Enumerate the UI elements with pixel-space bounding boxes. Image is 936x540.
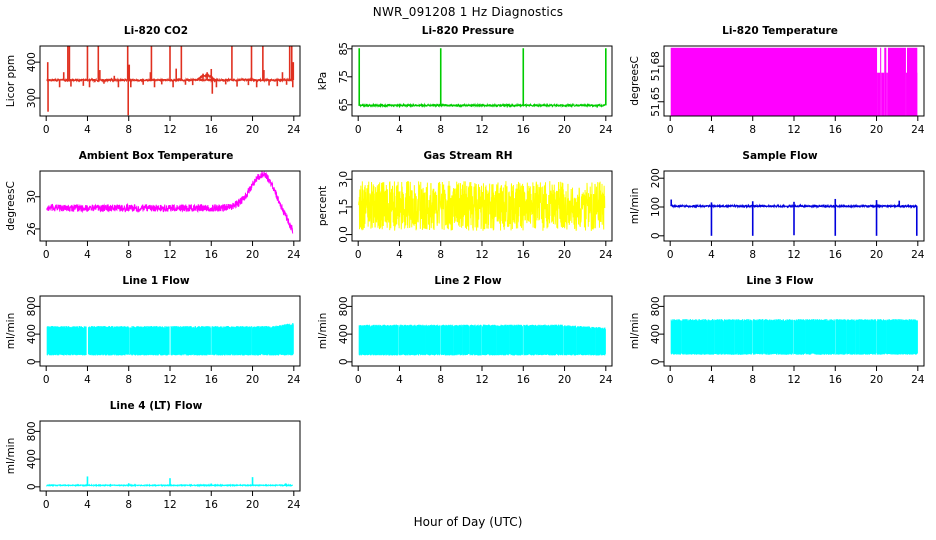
panel-title-line-3-flow: Line 3 Flow [624, 275, 936, 287]
x-tick-label: 24 [287, 124, 301, 136]
y-axis-label: ml/min [629, 188, 641, 224]
y-tick-label: 65 [338, 98, 350, 111]
x-tick-label: 20 [870, 124, 883, 136]
y-tick-label: 400 [650, 324, 662, 344]
panel-line-2-flow: Line 2 Flow048121620240400800ml/min [312, 275, 624, 400]
diagnostics-figure: NWR_091208 1 Hz Diagnostics Hour of Day … [0, 0, 936, 540]
y-tick-label: 400 [338, 324, 350, 344]
y-tick-label: 51.68 [650, 51, 662, 81]
x-tick-label: 24 [911, 249, 925, 261]
panel-li820-temperature: Li-820 Temperature0481216202451.6551.68d… [624, 25, 936, 150]
x-tick-label: 12 [787, 249, 800, 261]
x-tick-label: 24 [287, 499, 301, 511]
x-tick-label: 16 [517, 374, 531, 386]
x-tick-label: 12 [163, 124, 176, 136]
x-tick-label: 8 [125, 499, 132, 511]
y-tick-label: 200 [650, 168, 662, 188]
series-line-4-lt-flow [47, 476, 293, 485]
x-tick-label: 4 [84, 374, 91, 386]
x-tick-label: 20 [558, 374, 571, 386]
x-tick-label: 4 [84, 249, 91, 261]
x-tick-label: 0 [43, 124, 50, 136]
x-tick-label: 16 [829, 124, 843, 136]
x-tick-label: 8 [125, 249, 132, 261]
plot-sample-flow: 048121620240100200ml/min [624, 150, 936, 275]
x-tick-label: 8 [749, 124, 756, 136]
x-tick-label: 8 [437, 374, 444, 386]
x-tick-label: 0 [355, 374, 362, 386]
x-tick-label: 0 [667, 249, 674, 261]
x-tick-label: 8 [437, 124, 444, 136]
x-tick-label: 12 [163, 249, 176, 261]
x-tick-label: 12 [163, 499, 176, 511]
y-tick-label: 400 [26, 449, 38, 469]
figure-title: NWR_091208 1 Hz Diagnostics [0, 5, 936, 19]
x-tick-label: 16 [205, 124, 219, 136]
x-tick-label: 4 [396, 249, 403, 261]
x-tick-label: 24 [599, 249, 613, 261]
x-tick-label: 20 [246, 499, 259, 511]
x-tick-label: 12 [475, 374, 488, 386]
panel-gas-stream-rh: Gas Stream RH048121620240.01.53.0percent [312, 150, 624, 275]
panel-title-line-1-flow: Line 1 Flow [0, 275, 312, 287]
y-tick-label: 800 [338, 296, 350, 316]
x-tick-label: 0 [355, 124, 362, 136]
x-tick-label: 8 [749, 374, 756, 386]
x-tick-label: 12 [787, 374, 800, 386]
panel-title-li820-co2: Li-820 CO2 [0, 25, 312, 37]
y-tick-label: 0 [650, 358, 662, 365]
panel-line-3-flow: Line 3 Flow048121620240400800ml/min [624, 275, 936, 400]
plot-line-2-flow: 048121620240400800ml/min [312, 275, 624, 400]
x-tick-label: 12 [163, 374, 176, 386]
panel-title-gas-stream-rh: Gas Stream RH [312, 150, 624, 162]
plot-ambient-box-temperature: 048121620242630degreesC [0, 150, 312, 275]
x-tick-label: 0 [667, 124, 674, 136]
series-ambient-box-temperature [47, 172, 293, 234]
x-tick-label: 16 [517, 124, 531, 136]
plot-li820-temperature: 0481216202451.6551.68degreesC [624, 25, 936, 150]
y-tick-label: 0 [26, 483, 38, 490]
y-tick-label: 400 [26, 324, 38, 344]
panel-ambient-box-temperature: Ambient Box Temperature048121620242630de… [0, 150, 312, 275]
panel-title-sample-flow: Sample Flow [624, 150, 936, 162]
y-axis-label: percent [317, 186, 329, 226]
x-tick-label: 24 [287, 249, 301, 261]
plot-line-1-flow: 048121620240400800ml/min [0, 275, 312, 400]
panel-title-li820-temperature: Li-820 Temperature [624, 25, 936, 37]
y-axis-label: kPa [317, 72, 329, 90]
x-tick-label: 4 [708, 249, 715, 261]
y-axis-label: ml/min [629, 313, 641, 349]
plot-line-3-flow: 048121620240400800ml/min [624, 275, 936, 400]
x-tick-label: 20 [558, 249, 571, 261]
y-tick-label: 800 [26, 296, 38, 316]
series-li820-co2 [47, 46, 294, 115]
series-line-2-flow [359, 325, 606, 356]
series-line [359, 181, 605, 231]
x-tick-label: 0 [43, 499, 50, 511]
y-tick-label: 800 [650, 296, 662, 316]
x-tick-label: 0 [43, 249, 50, 261]
x-tick-label: 0 [667, 374, 674, 386]
x-tick-label: 0 [43, 374, 50, 386]
panel-li820-pressure: Li-820 Pressure04812162024657585kPa [312, 25, 624, 150]
panel-line-1-flow: Line 1 Flow048121620240400800ml/min [0, 275, 312, 400]
y-tick-label: 0.0 [338, 226, 350, 243]
x-tick-label: 24 [599, 124, 613, 136]
y-tick-label: 0 [26, 358, 38, 365]
x-tick-label: 12 [475, 249, 488, 261]
plot-li820-pressure: 04812162024657585kPa [312, 25, 624, 150]
panel-li820-co2: Li-820 CO204812162024300400Licor ppm [0, 25, 312, 150]
x-tick-label: 4 [84, 499, 91, 511]
x-tick-label: 24 [911, 374, 925, 386]
x-tick-label: 16 [205, 249, 219, 261]
x-tick-label: 4 [84, 124, 91, 136]
y-tick-label: 800 [26, 421, 38, 441]
x-tick-label: 20 [246, 249, 259, 261]
series-line-1-flow [47, 323, 294, 355]
y-axis-label: ml/min [5, 313, 17, 349]
panel-title-li820-pressure: Li-820 Pressure [312, 25, 624, 37]
x-tick-label: 8 [125, 124, 132, 136]
x-tick-label: 20 [246, 374, 259, 386]
panel-line-4-lt-flow: Line 4 (LT) Flow048121620240400800ml/min [0, 400, 312, 525]
x-tick-label: 20 [870, 249, 883, 261]
series-line [47, 172, 293, 234]
x-tick-label: 4 [396, 374, 403, 386]
y-tick-label: 0 [650, 232, 662, 239]
x-tick-label: 16 [829, 374, 843, 386]
x-tick-label: 12 [787, 124, 800, 136]
x-tick-label: 24 [599, 374, 613, 386]
x-tick-label: 16 [205, 499, 219, 511]
x-tick-label: 8 [437, 249, 444, 261]
y-tick-label: 75 [338, 70, 350, 83]
y-tick-label: 3.0 [338, 171, 350, 188]
x-tick-label: 20 [558, 124, 571, 136]
y-tick-label: 26 [26, 222, 38, 236]
series-li820-pressure [359, 48, 606, 106]
y-tick-label: 300 [26, 88, 38, 108]
plot-line-4-lt-flow: 048121620240400800ml/min [0, 400, 312, 525]
series-line-3-flow [671, 319, 918, 355]
panel-title-ambient-box-temperature: Ambient Box Temperature [0, 150, 312, 162]
y-tick-label: 51.65 [650, 87, 662, 117]
plot-gas-stream-rh: 048121620240.01.53.0percent [312, 150, 624, 275]
panel-title-line-4-lt-flow: Line 4 (LT) Flow [0, 400, 312, 412]
y-tick-label: 400 [26, 52, 38, 72]
panel-title-line-2-flow: Line 2 Flow [312, 275, 624, 287]
x-tick-label: 16 [517, 249, 531, 261]
y-axis-label: degreesC [5, 181, 17, 231]
x-tick-label: 24 [911, 124, 925, 136]
series-gas-stream-rh [359, 181, 605, 231]
y-tick-label: 1.5 [338, 199, 350, 216]
y-axis-label: degreesC [629, 56, 641, 106]
x-tick-label: 20 [870, 374, 883, 386]
y-axis-label: Licor ppm [5, 55, 17, 107]
x-tick-label: 24 [287, 374, 301, 386]
x-tick-label: 4 [396, 124, 403, 136]
y-axis-label: ml/min [317, 313, 329, 349]
x-tick-label: 16 [205, 374, 219, 386]
y-tick-label: 100 [650, 197, 662, 217]
x-tick-label: 0 [355, 249, 362, 261]
y-tick-label: 85 [338, 42, 350, 55]
plot-li820-co2: 04812162024300400Licor ppm [0, 25, 312, 150]
panel-sample-flow: Sample Flow048121620240100200ml/min [624, 150, 936, 275]
y-tick-label: 30 [26, 190, 38, 203]
x-tick-label: 12 [475, 124, 488, 136]
y-axis-label: ml/min [5, 438, 17, 474]
x-tick-label: 20 [246, 124, 259, 136]
series-li820-temperature [671, 48, 918, 116]
x-tick-label: 4 [708, 124, 715, 136]
series-sample-flow [671, 199, 917, 236]
x-tick-label: 8 [125, 374, 132, 386]
y-tick-label: 0 [338, 358, 350, 365]
x-tick-label: 4 [708, 374, 715, 386]
x-tick-label: 16 [829, 249, 843, 261]
x-tick-label: 8 [749, 249, 756, 261]
series-line [359, 104, 605, 106]
